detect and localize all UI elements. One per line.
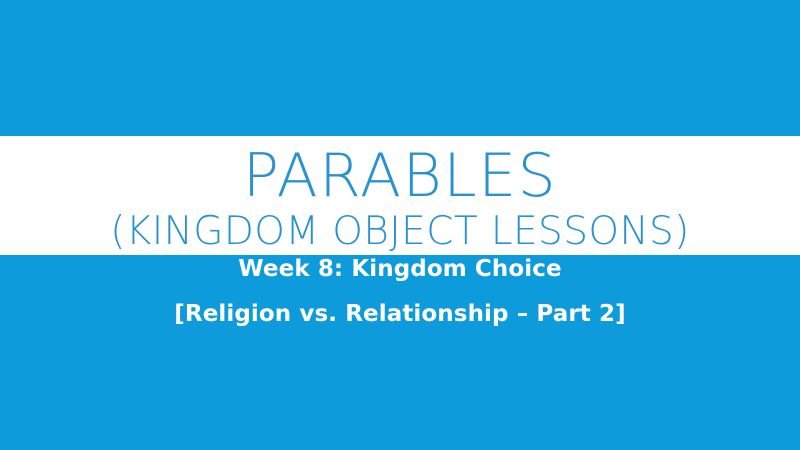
subtitle-block: Week 8: Kingdom Choice [Religion vs. Rel… (0, 258, 800, 326)
subtitle-line-week: Week 8: Kingdom Choice (0, 258, 800, 281)
subtitle-line-topic: [Religion vs. Relationship – Part 2] (0, 303, 800, 326)
title-slide: PARABLES (KINGDOM OBJECT LESSONS) Week 8… (0, 0, 800, 450)
slide-title-parenthetical: (KINGDOM OBJECT LESSONS) (110, 212, 690, 251)
slide-title: PARABLES (243, 146, 557, 206)
title-block: PARABLES (KINGDOM OBJECT LESSONS) (0, 136, 800, 255)
